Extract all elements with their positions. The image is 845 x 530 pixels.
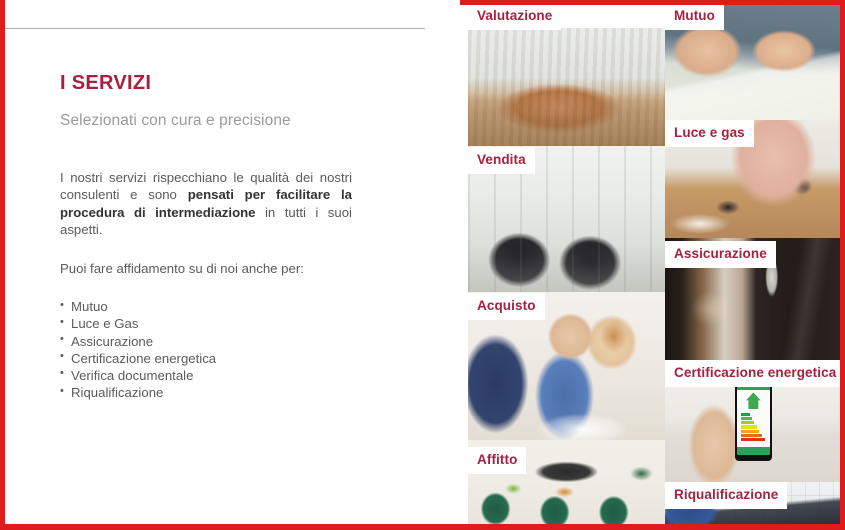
living-room-tan-sofa-photo xyxy=(468,28,665,146)
list-item: Luce e Gas xyxy=(60,315,365,332)
smartphone-illustration xyxy=(735,373,772,461)
photo-label-vendita: Vendita xyxy=(468,147,535,174)
photo-label-mutuo: Mutuo xyxy=(665,3,724,30)
photo-label-affitto: Affitto xyxy=(468,447,526,474)
page-title: I SERVIZI xyxy=(60,72,365,94)
services-lead-in: Puoi fare affidamento su di noi anche pe… xyxy=(60,260,365,278)
frame-border-left xyxy=(0,0,5,530)
services-bullet-list: Mutuo Luce e Gas Assicurazione Certifica… xyxy=(60,298,365,401)
photo-label-acquisto: Acquisto xyxy=(468,293,545,320)
page-subtitle: Selezionati con cura e precisione xyxy=(60,112,365,131)
service-photo-mosaic: Valutazione Vendita Acquisto Affitto Mut… xyxy=(460,0,840,530)
list-item: Verifica documentale xyxy=(60,367,365,384)
photo-label-certificazione: Certificazione energetica xyxy=(665,360,840,387)
house-icon xyxy=(746,392,761,409)
list-item: Riqualificazione xyxy=(60,384,365,401)
list-item: Certificazione energetica xyxy=(60,350,365,367)
photo-label-riqualificazione: Riqualificazione xyxy=(665,482,787,509)
list-item: Assicurazione xyxy=(60,333,365,350)
photo-label-lucegas: Luce e gas xyxy=(665,120,754,147)
frame-border-top-right xyxy=(460,0,845,5)
photo-tile-valutazione xyxy=(468,28,665,146)
photo-label-assicurazione: Assicurazione xyxy=(665,241,776,268)
frame-border-right xyxy=(840,0,845,530)
intro-paragraph: I nostri servizi rispecchiano le qualità… xyxy=(60,169,352,239)
slide-root: I SERVIZI Selezionati con cura e precisi… xyxy=(0,0,845,530)
list-item: Mutuo xyxy=(60,298,365,315)
header-divider-rule xyxy=(5,28,425,29)
text-content: I SERVIZI Selezionati con cura e precisi… xyxy=(60,72,365,401)
energy-rating-bars xyxy=(741,413,765,439)
text-panel: I SERVIZI Selezionati con cura e precisi… xyxy=(5,0,460,530)
app-footer-bar xyxy=(737,447,770,455)
photo-label-valutazione: Valutazione xyxy=(468,3,561,30)
phone-screen xyxy=(737,380,770,456)
frame-border-bottom xyxy=(0,524,845,530)
